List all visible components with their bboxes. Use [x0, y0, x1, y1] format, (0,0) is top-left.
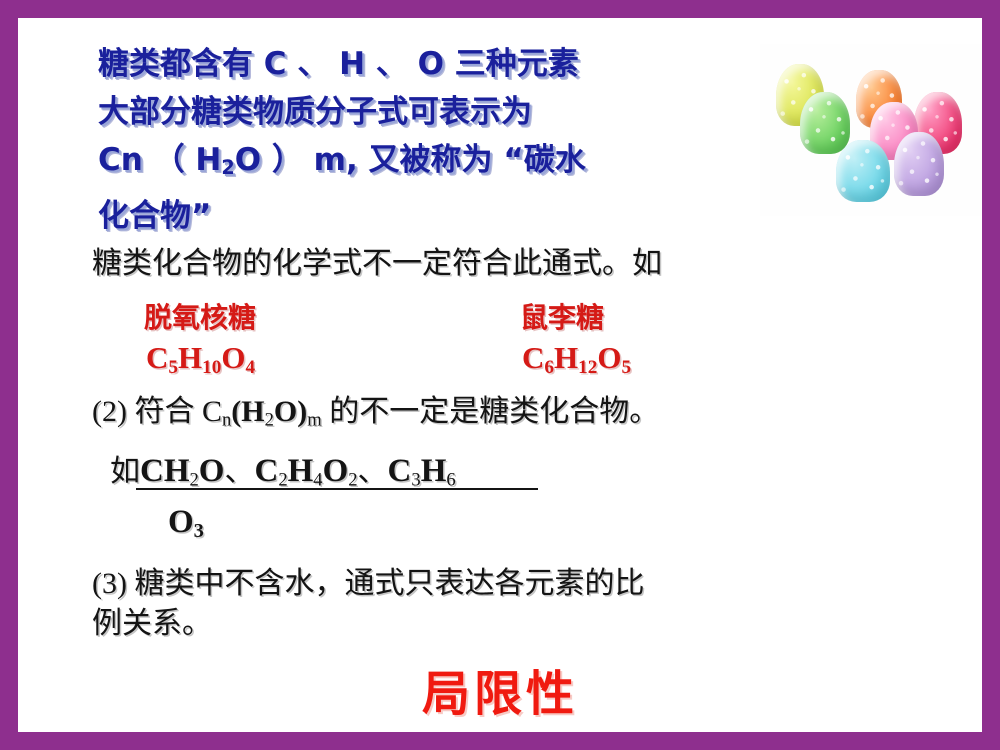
formula-c-sub: 5 [168, 357, 178, 378]
example-label: 如 [110, 455, 140, 488]
formula-h-sub: 12 [578, 357, 597, 378]
heading-line-2: 大部分糖类物质分子式可表示为 [98, 88, 718, 136]
example-name-deoxyribose: 脱氧核糖 [144, 296, 256, 336]
item2-sub-n: n [222, 410, 231, 431]
formula-h: H [554, 340, 578, 375]
item2-suffix: 的不一定是糖类化合物。 [322, 395, 660, 428]
general-formula-note: 糖类化合物的化学式不一定符合此通式。如 [92, 238, 662, 282]
formula-o-sub: 5 [621, 357, 631, 378]
example-name-rhamnose: 鼠李糖 [520, 296, 604, 336]
formula-c: C [522, 340, 544, 375]
formula-h-sub: 10 [202, 357, 221, 378]
formula-o-sub: 4 [245, 357, 255, 378]
body-example-line-wrap: O3 [168, 504, 204, 543]
example-formula-3-c: C [388, 453, 412, 489]
body-item-3-line-2: 例关系。 [92, 598, 212, 642]
item2-mid2: O) [274, 395, 307, 428]
bottom-title: 局限性 [18, 654, 982, 724]
formula-h: H [178, 340, 202, 375]
example-formula-2-c: C [254, 453, 278, 489]
item2-mid: (H [231, 395, 264, 428]
example-formula-deoxyribose: C5H10O4 [146, 340, 255, 379]
example-underline [136, 488, 538, 490]
formula-o: O [597, 340, 621, 375]
example-formula-3-sub3: 3 [194, 520, 204, 542]
heading-line-3: Cn （ H2O ） m, 又被称为 “碳水 [98, 136, 718, 192]
formula-o: O [221, 340, 245, 375]
candy-green-icon [800, 92, 850, 154]
example-formula-3-o: O [168, 504, 194, 540]
heading-block: 糖类都含有 C 、 H 、 O 三种元素 大部分糖类物质分子式可表示为 Cn （… [98, 40, 718, 240]
heading-line-1: 糖类都含有 C 、 H 、 O 三种元素 [98, 40, 718, 88]
body-item-3-line-1: (3) 糖类中不含水，通式只表达各元素的比 [92, 558, 644, 602]
slide-canvas: 糖类都含有 C 、 H 、 O 三种元素 大部分糖类物质分子式可表示为 Cn （… [18, 18, 982, 732]
heading-line-3-subscript: 2 [221, 156, 234, 179]
example-separator-2: 、 [358, 455, 388, 488]
heading-line-3-prefix: Cn （ H [98, 142, 221, 178]
candy-blue-icon [836, 140, 890, 202]
example-formula-3-h: H [421, 453, 447, 489]
candy-purple-icon [894, 132, 944, 196]
formula-c-sub: 6 [544, 357, 554, 378]
example-formula-rhamnose: C6H12O5 [522, 340, 631, 379]
example-formula-1-o: O [199, 453, 225, 489]
item2-prefix: (2) 符合 C [92, 395, 222, 428]
item2-sub-2: 2 [265, 410, 274, 431]
body-example-line: 如CH2O、C2H4O2、C3H6 [110, 446, 456, 492]
formula-c: C [146, 340, 168, 375]
item2-sub-m: m [307, 410, 321, 431]
heading-line-3-suffix: O ） m, 又被称为 “碳水 [235, 142, 586, 178]
heading-line-4: 化合物” [98, 192, 718, 240]
example-formula-2-o: O [323, 453, 349, 489]
candy-gumdrops-photo [760, 44, 982, 216]
body-item-2: (2) 符合 Cn(H2O)m 的不一定是糖类化合物。 [92, 386, 659, 432]
example-formula-1-c: CH [140, 453, 190, 489]
example-separator-1: 、 [224, 455, 254, 488]
example-formula-2-h: H [288, 453, 314, 489]
